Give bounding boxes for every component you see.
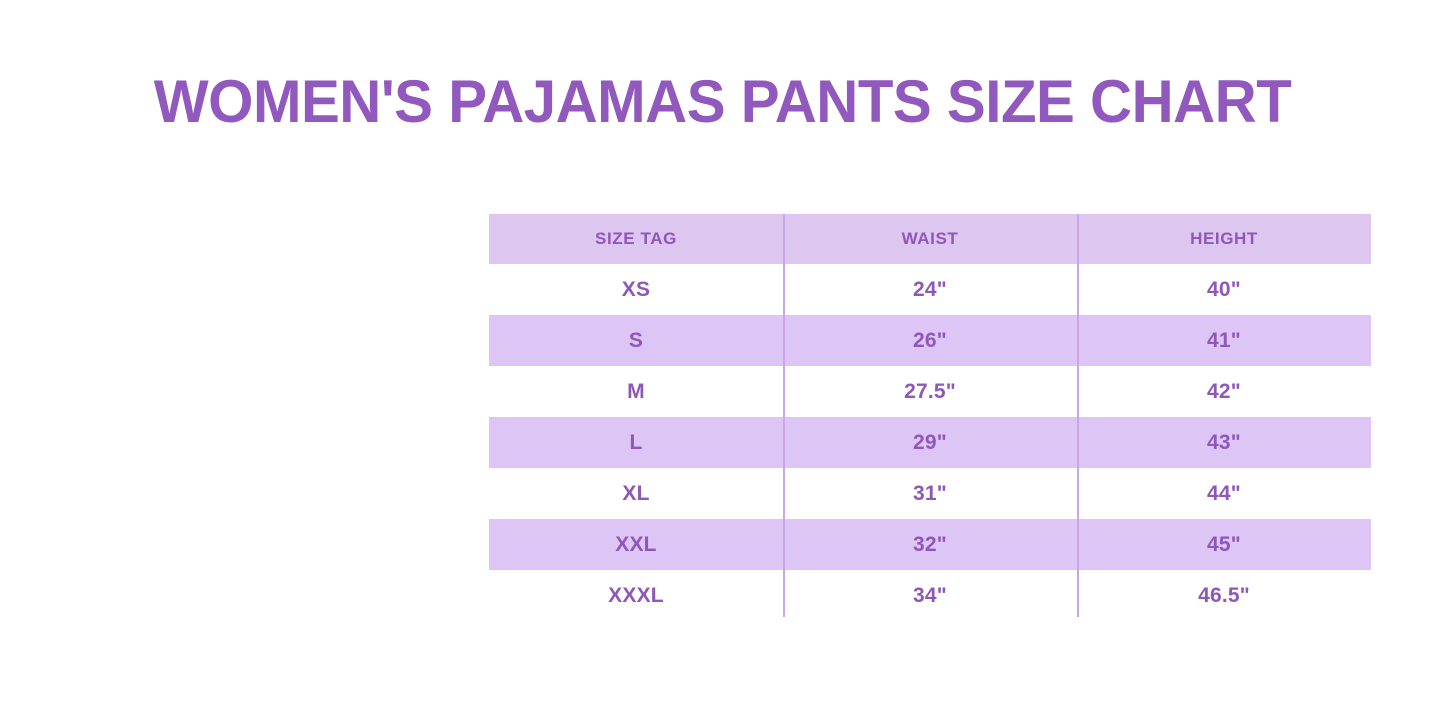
cell-waist: 29" — [783, 417, 1077, 468]
column-header-waist: WAIST — [783, 214, 1077, 264]
table-header: SIZE TAG WAIST HEIGHT — [489, 214, 1371, 264]
page-title: WOMEN'S PAJAMAS PANTS SIZE CHART — [22, 66, 1424, 138]
table-row: S 26" 41" — [489, 315, 1371, 366]
cell-waist: 26" — [783, 315, 1077, 366]
cell-height: 46.5" — [1077, 570, 1371, 621]
cell-size-tag: XS — [489, 264, 783, 315]
cell-waist: 27.5" — [783, 366, 1077, 417]
cell-waist: 31" — [783, 468, 1077, 519]
column-divider-2 — [1077, 214, 1079, 617]
table-row: XS 24" 40" — [489, 264, 1371, 315]
table-row: XXL 32" 45" — [489, 519, 1371, 570]
cell-size-tag: XXL — [489, 519, 783, 570]
cell-height: 45" — [1077, 519, 1371, 570]
cell-height: 43" — [1077, 417, 1371, 468]
cell-waist: 24" — [783, 264, 1077, 315]
table-body: XS 24" 40" S 26" 41" M 27.5" 42" L 29" 4… — [489, 264, 1371, 621]
size-chart-page: WOMEN'S PAJAMAS PANTS SIZE CHART SIZE TA… — [0, 0, 1445, 723]
table-row: M 27.5" 42" — [489, 366, 1371, 417]
size-chart-table: SIZE TAG WAIST HEIGHT XS 24" 40" S 26" 4… — [489, 214, 1371, 621]
cell-height: 40" — [1077, 264, 1371, 315]
cell-size-tag: L — [489, 417, 783, 468]
cell-height: 44" — [1077, 468, 1371, 519]
cell-size-tag: S — [489, 315, 783, 366]
column-divider-1 — [783, 214, 785, 617]
cell-height: 41" — [1077, 315, 1371, 366]
cell-waist: 34" — [783, 570, 1077, 621]
cell-height: 42" — [1077, 366, 1371, 417]
table-row: XXXL 34" 46.5" — [489, 570, 1371, 621]
column-header-size-tag: SIZE TAG — [489, 214, 783, 264]
table-header-row: SIZE TAG WAIST HEIGHT — [489, 214, 1371, 264]
cell-size-tag: M — [489, 366, 783, 417]
table-row: XL 31" 44" — [489, 468, 1371, 519]
table-row: L 29" 43" — [489, 417, 1371, 468]
cell-size-tag: XXXL — [489, 570, 783, 621]
cell-waist: 32" — [783, 519, 1077, 570]
column-header-height: HEIGHT — [1077, 214, 1371, 264]
cell-size-tag: XL — [489, 468, 783, 519]
